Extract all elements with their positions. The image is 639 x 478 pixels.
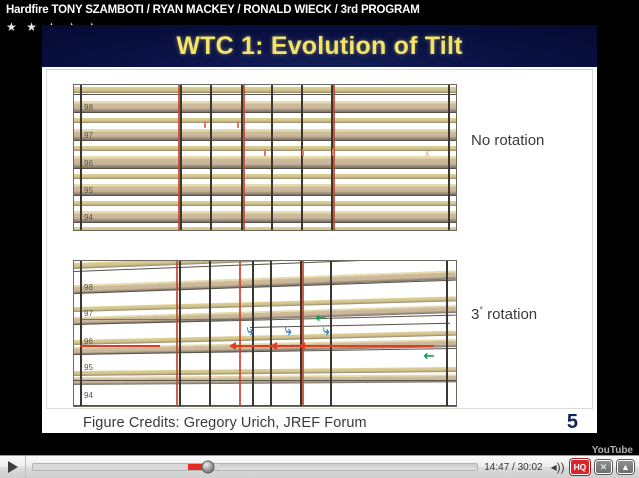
force-arrow (234, 345, 434, 347)
cc-button[interactable]: ✕ (595, 460, 612, 474)
slide-header: WTC 1: Evolution of Tilt (42, 25, 597, 67)
floor-slab (74, 129, 456, 140)
slipped-beam (80, 319, 255, 320)
arrow-head (229, 342, 236, 350)
slide-canvas: 98 97 96 95 94 x (46, 69, 593, 409)
floor-slab (74, 101, 456, 112)
floor-label: 97 (84, 131, 93, 140)
seek-track[interactable] (32, 463, 478, 471)
tick-mark (237, 121, 239, 128)
floor-label: 97 (84, 309, 93, 318)
floor-beam (74, 222, 456, 223)
floor-beam (74, 168, 456, 169)
column-highlight (243, 85, 245, 230)
floor-label: 95 (84, 363, 93, 372)
slide-page-number: 5 (567, 411, 578, 434)
video-title: Hardfire TONY SZAMBOTI / RYAN MACKEY / R… (6, 4, 420, 16)
floor-beam (74, 94, 456, 95)
diagram-no-rotation: 98 97 96 95 94 x (73, 84, 457, 231)
column (270, 261, 272, 406)
play-button[interactable] (0, 456, 26, 478)
fullscreen-button[interactable]: ▲ (617, 460, 634, 474)
seek-handle[interactable] (202, 461, 215, 474)
diagram-3deg-rotation: 98 97 96 95 94 ⤷ ⤷ ⤷ ↙ (73, 260, 457, 407)
force-arrow (80, 345, 160, 347)
hq-badge: HQ (570, 459, 590, 475)
column-highlight (302, 261, 304, 406)
floor-label: 98 (84, 103, 93, 112)
arrow-head (270, 342, 277, 350)
column (446, 261, 448, 406)
caption-rotation-word: rotation (483, 306, 537, 323)
floor-slab (74, 156, 456, 168)
floor-slab (74, 211, 456, 222)
floor-label: 95 (84, 186, 93, 195)
slide-title: WTC 1: Evolution of Tilt (176, 32, 462, 61)
floor-beam (74, 380, 456, 381)
column (448, 85, 450, 230)
floor-slab (74, 87, 456, 93)
rotation-curl-icon: ⤷ (247, 323, 254, 338)
caption-no-rotation: No rotation (471, 132, 544, 149)
volume-button[interactable]: ◂)) (551, 461, 565, 473)
rotation-curl-icon: ⤷ (285, 323, 292, 338)
column (80, 261, 82, 406)
column (180, 85, 182, 230)
floor-beam (74, 112, 456, 113)
column (271, 85, 273, 230)
tick-mark (264, 149, 266, 156)
caption-3deg-rotation: 3° rotation (471, 305, 537, 323)
tick-mark (204, 121, 206, 128)
floor-slab (74, 201, 456, 206)
floor-beam (74, 405, 456, 406)
rotation-curl-icon: ⤷ (323, 323, 330, 338)
tick-mark (302, 149, 304, 156)
column (330, 261, 332, 406)
slide-body: 98 97 96 95 94 x (42, 67, 597, 433)
floor-beam (74, 140, 456, 141)
floor-slab (74, 174, 456, 179)
hq-button[interactable]: HQ (570, 459, 590, 475)
x-marker: x (425, 148, 430, 158)
presentation-slide: WTC 1: Evolution of Tilt (42, 25, 597, 433)
column (80, 85, 82, 230)
column-highlight (239, 261, 241, 406)
seek-bar[interactable] (32, 456, 478, 478)
video-player-stage: Hardfire TONY SZAMBOTI / RYAN MACKEY / R… (0, 0, 639, 478)
player-control-bar: 14:47 / 30:02 ◂)) HQ ✕ ▲ (0, 455, 639, 478)
floor-label: 94 (84, 391, 93, 400)
column-highlight (333, 85, 335, 230)
floor-label: 96 (84, 159, 93, 168)
floor-beam (74, 195, 456, 196)
floor-slab (74, 118, 456, 123)
tilted-structure (74, 261, 456, 406)
volume-icon: ◂)) (551, 461, 565, 473)
figure-credits: Figure Credits: Gregory Urich, JREF Foru… (83, 415, 367, 431)
floor-slab (74, 227, 456, 231)
floor-slab (74, 184, 456, 195)
arrow-head (298, 342, 305, 350)
column (301, 85, 303, 230)
column-highlight (176, 261, 178, 406)
floor-label: 94 (84, 213, 93, 222)
column (209, 261, 211, 406)
timecode-display: 14:47 / 30:02 (484, 462, 542, 473)
column (179, 261, 181, 406)
floor-label: 98 (84, 283, 93, 292)
tick-mark (332, 149, 334, 156)
column (210, 85, 212, 230)
play-icon (8, 461, 18, 473)
